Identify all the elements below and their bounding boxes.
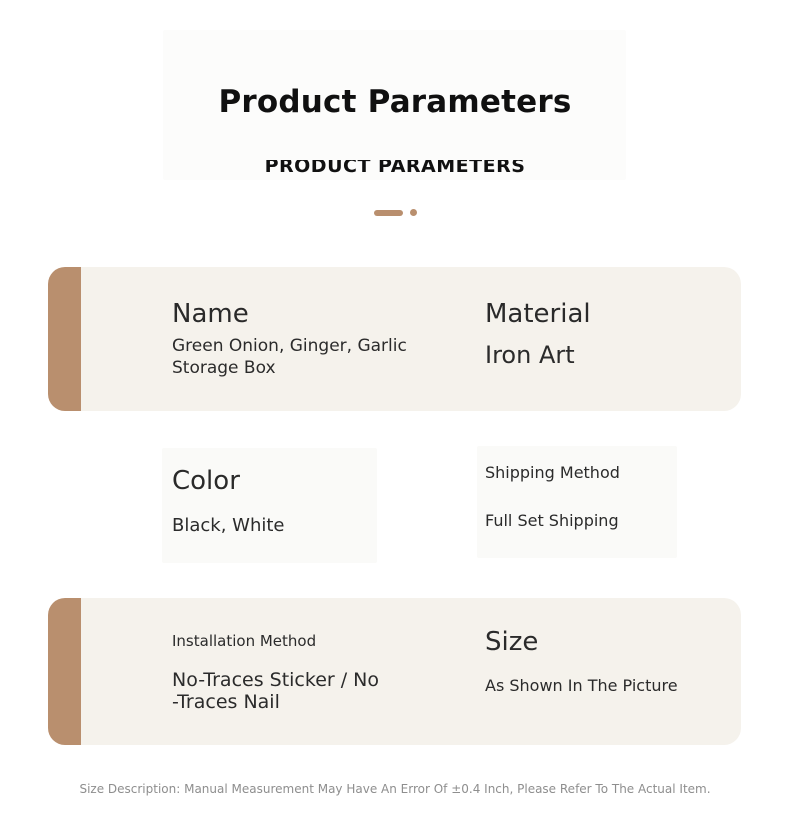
page-subtitle-obscured: PRODUCT PARAMETERS — [265, 160, 526, 176]
field-label: Name — [172, 299, 462, 329]
page-header: Product Parameters PRODUCT PARAMETERS — [0, 0, 790, 240]
field-label: Shipping Method — [485, 462, 735, 484]
field-label: Size — [485, 627, 745, 657]
field-value: No-Traces Sticker / No -Traces Nail — [172, 669, 472, 713]
size-description-note: Size Description: Manual Measurement May… — [0, 781, 790, 797]
field-label: Color — [172, 466, 432, 496]
card-accent-bar-placeholder — [48, 436, 81, 576]
spec-card-row-1: Name Green Onion, Ginger, Garlic Storage… — [48, 267, 741, 411]
product-parameters-page: Product Parameters PRODUCT PARAMETERS Na… — [0, 0, 790, 838]
spec-card-row-2: Color Black, White Shipping Method Full … — [48, 436, 741, 576]
field-name: Name Green Onion, Ginger, Garlic Storage… — [172, 299, 462, 379]
field-value: Iron Art — [485, 341, 735, 369]
field-label: Material — [485, 299, 735, 329]
ornament-bar-icon — [374, 210, 403, 216]
field-value: Full Set Shipping — [485, 510, 735, 532]
spec-card-row-3: Installation Method No-Traces Sticker / … — [48, 598, 741, 745]
field-color: Color Black, White — [172, 466, 432, 538]
card-body: Name Green Onion, Ginger, Garlic Storage… — [81, 267, 741, 411]
card-accent-bar — [48, 598, 81, 745]
field-value: As Shown In The Picture — [485, 675, 745, 697]
ornament-dot-icon — [410, 209, 417, 216]
field-installation-method: Installation Method No-Traces Sticker / … — [172, 631, 472, 713]
field-shipping-method: Shipping Method Full Set Shipping — [485, 462, 735, 532]
page-title: Product Parameters — [0, 84, 790, 120]
card-body: Installation Method No-Traces Sticker / … — [81, 598, 741, 745]
card-accent-bar — [48, 267, 81, 411]
field-label: Installation Method — [172, 631, 472, 651]
field-material: Material Iron Art — [485, 299, 735, 369]
field-size: Size As Shown In The Picture — [485, 627, 745, 697]
header-ornament — [0, 209, 790, 216]
field-value: Green Onion, Ginger, Garlic Storage Box — [172, 335, 462, 379]
card-body: Color Black, White Shipping Method Full … — [81, 436, 741, 576]
page-subtitle-clip: PRODUCT PARAMETERS — [0, 160, 790, 177]
field-value: Black, White — [172, 514, 432, 538]
